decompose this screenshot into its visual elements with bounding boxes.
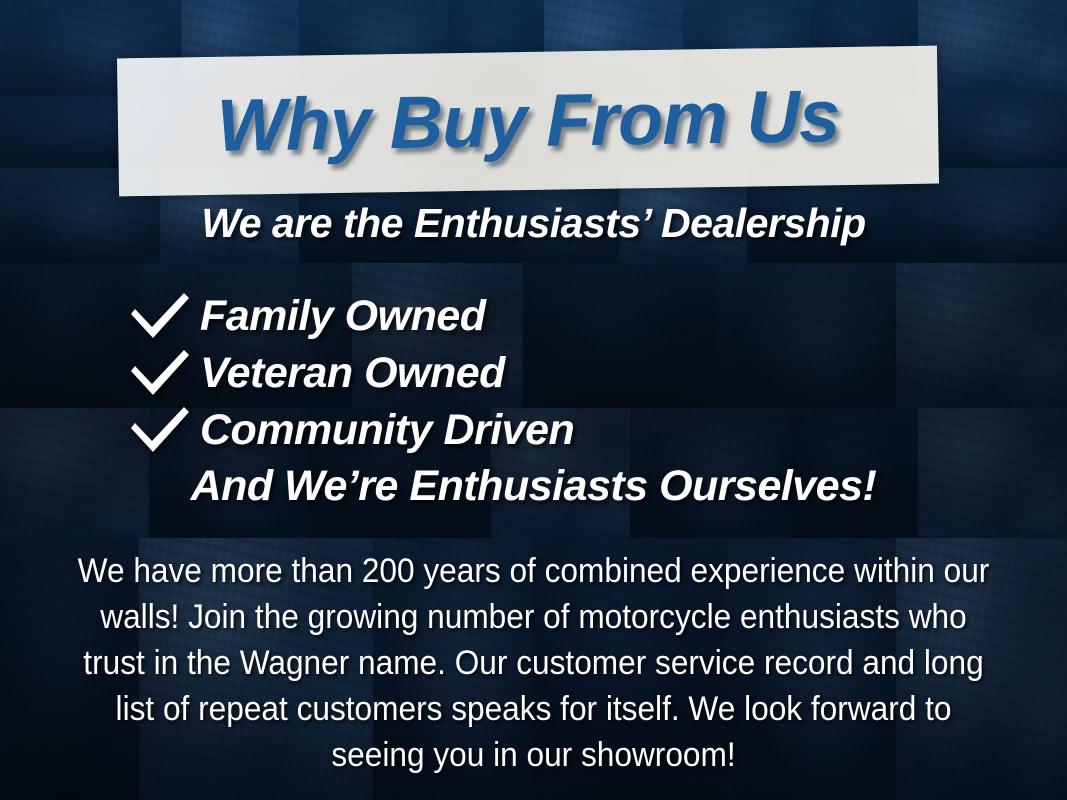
content-layer: Why Buy From Us We are the Enthusiasts’ …	[0, 0, 1067, 800]
page-title: Why Buy From Us	[117, 46, 939, 197]
checklist-item-label: Community Driven	[200, 406, 574, 455]
check-mark-icon	[128, 347, 200, 399]
checklist-closing-line: And We’re Enthusiasts Ourselves!	[0, 462, 1067, 511]
checklist-item: Family Owned	[128, 288, 948, 344]
page-subtitle: We are the Enthusiasts’ Dealership	[0, 200, 1067, 247]
checklist-item: Community Driven	[128, 402, 948, 458]
check-mark-icon	[128, 290, 200, 342]
promo-graphic: Why Buy From Us We are the Enthusiasts’ …	[0, 0, 1067, 800]
body-paragraph: We have more than 200 years of combined …	[76, 548, 990, 778]
checklist-item-label: Family Owned	[200, 292, 486, 341]
benefits-checklist: Family Owned Veteran Owned Community Dri…	[128, 288, 948, 459]
check-mark-icon	[128, 404, 200, 456]
checklist-item-label: Veteran Owned	[200, 349, 505, 398]
checklist-item: Veteran Owned	[128, 345, 948, 401]
